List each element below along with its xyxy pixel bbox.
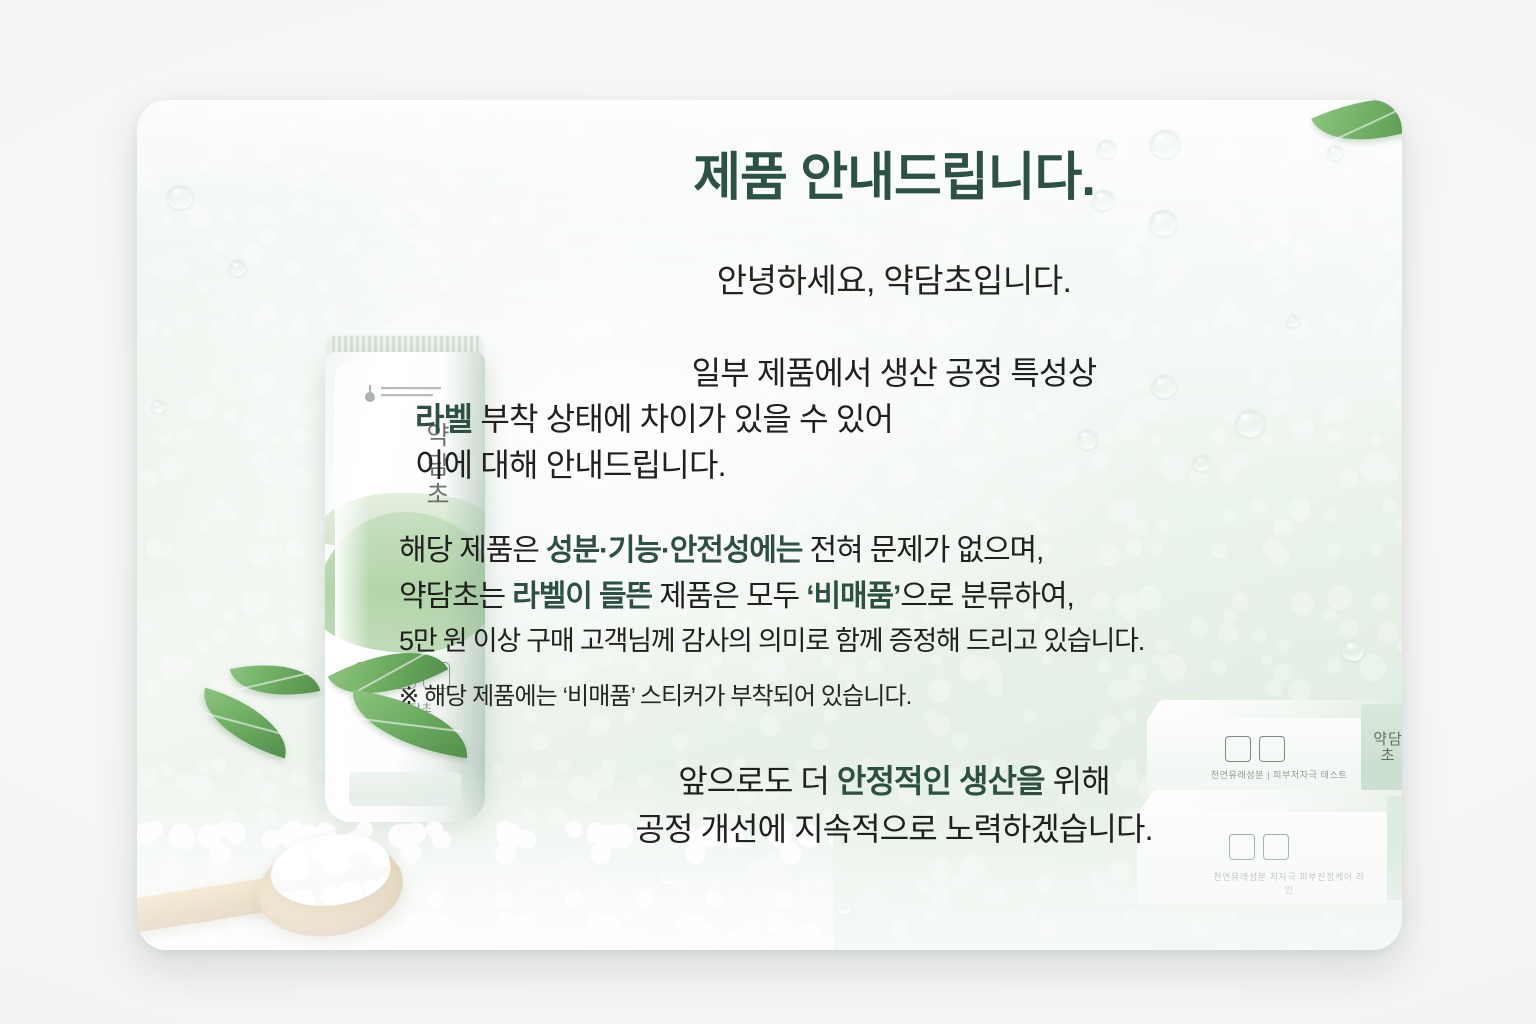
p3-l1-b: 위해 <box>1045 763 1110 799</box>
sticker-note: ※ 해당 제품에는 ‘비매품’ 스티커가 부착되어 있습니다. <box>399 676 1389 711</box>
p2-line-2: 약담초는 라벨이 들뜬 제품은 모두 ‘비매품’으로 분류하여, <box>399 574 1389 620</box>
highlight-stable-production: 안정적인 생산을 <box>837 763 1045 799</box>
p2-l1-a: 해당 제품은 <box>399 534 546 567</box>
highlight-not-for-sale: ‘비매품’ <box>806 580 900 613</box>
water-droplet-icon <box>167 185 193 209</box>
page-title: 제품 안내드립니다. <box>399 135 1389 210</box>
p2-line-3: 5만 원 이상 구매 고객님께 감사의 의미로 함께 증정해 드리고 있습니다. <box>399 621 1389 663</box>
p2-line-1: 해당 제품은 성분·기능·안전성에는 전혀 문제가 없으며, <box>399 528 1389 574</box>
p1-line-2: 라벨 부착 상태에 차이가 있을 수 있어 <box>399 396 1389 442</box>
highlight-label: 라벨 <box>415 401 472 437</box>
tube-highlight <box>335 361 370 812</box>
page-background: 약 담 초 해남약담초 <box>0 0 1536 1024</box>
notice-text-column: 제품 안내드립니다. 안녕하세요, 약담초입니다. 일부 제품에서 생산 공정 … <box>399 135 1389 853</box>
p3-line-1: 앞으로도 더 안정적인 생산을 위해 <box>399 757 1389 805</box>
paragraph-1: 일부 제품에서 생산 공정 특성상 라벨 부착 상태에 차이가 있을 수 있어 … <box>399 350 1389 488</box>
paragraph-3: 앞으로도 더 안정적인 생산을 위해 공정 개선에 지속적으로 노력하겠습니다. <box>399 757 1389 853</box>
water-droplet-icon <box>229 260 246 276</box>
p3-l1-a: 앞으로도 더 <box>678 763 837 799</box>
p2-l2-a: 약담초는 <box>399 580 512 613</box>
p2-l1-b: 전혀 문제가 없으며, <box>802 534 1043 567</box>
highlight-quality: 성분·기능·안전성에는 <box>546 534 802 567</box>
p1-line-2-rest: 부착 상태에 차이가 있을 수 있어 <box>472 401 893 437</box>
greeting-line: 안녕하세요, 약담초입니다. <box>399 254 1389 302</box>
p1-line-3: 이에 대해 안내드립니다. <box>399 442 1389 488</box>
highlight-loose-label: 라벨이 들뜬 <box>512 580 652 613</box>
water-droplet-icon <box>151 400 165 413</box>
p2-l2-b: 제품은 모두 <box>652 580 806 613</box>
p3-line-2: 공정 개선에 지속적으로 노력하겠습니다. <box>399 805 1389 853</box>
paragraph-2: 해당 제품은 성분·기능·안전성에는 전혀 문제가 없으며, 약담초는 라벨이 … <box>399 528 1389 662</box>
p2-l2-c: 으로 분류하여, <box>900 580 1073 613</box>
p1-line-1: 일부 제품에서 생산 공정 특성상 <box>399 350 1389 396</box>
notice-card: 약 담 초 해남약담초 <box>137 100 1402 950</box>
